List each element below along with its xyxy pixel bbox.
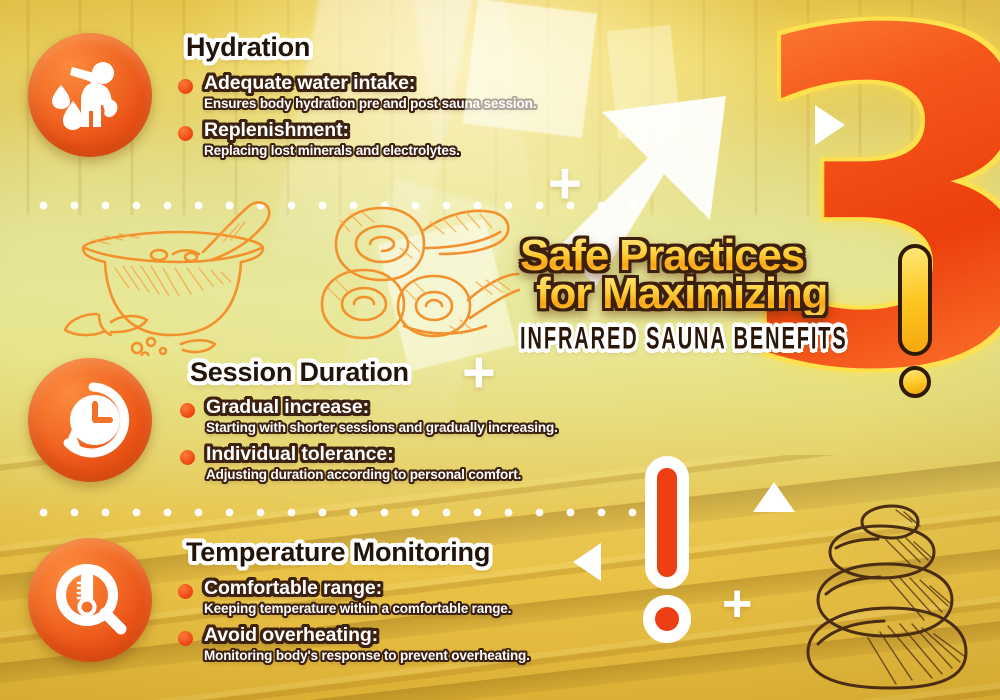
dotted-divider: [28, 507, 648, 518]
bullet-description: Monitoring body's response to prevent ov…: [204, 648, 648, 663]
bullet-dot: [180, 403, 195, 418]
bullet-list-session-duration: Gradual increase: Starting with shorter …: [180, 396, 650, 484]
bullet-item: Comfortable range: Keeping temperature w…: [178, 577, 648, 616]
section-icon-badge-hydration[interactable]: [28, 33, 152, 157]
bullet-heading: Individual tolerance:: [206, 443, 650, 466]
section-icon-badge-temperature-monitoring[interactable]: [28, 538, 152, 662]
bullet-dot: [180, 450, 195, 465]
triangle-decoration: [815, 105, 845, 145]
bullet-description: Starting with shorter sessions and gradu…: [206, 420, 650, 435]
section-title-hydration: Hydration: [186, 32, 310, 63]
mortar-and-pestle-sketch: [55, 196, 305, 356]
title-line-2: for Maximizing: [520, 274, 910, 314]
bullet-heading: Gradual increase:: [206, 396, 650, 419]
triangle-decoration: [573, 543, 601, 581]
bullet-dot: [178, 631, 193, 646]
bullet-dot: [178, 126, 193, 141]
plus-decoration: +: [548, 155, 582, 213]
plus-decoration: +: [722, 578, 752, 630]
bullet-description: Keeping temperature within a comfortable…: [204, 601, 648, 616]
bullet-dot: [178, 584, 193, 599]
poster-subtitle: INFRARED SAUNA BENEFITS: [520, 320, 809, 357]
bullet-item: Avoid overheating: Monitoring body's res…: [178, 624, 648, 663]
clock-rotate-icon: [47, 377, 133, 463]
triangle-decoration: [753, 482, 795, 512]
exclamation-bar: [898, 244, 932, 356]
section-title-session-duration: Session Duration: [190, 357, 409, 388]
infographic-poster: + + + 3 Safe Practices for Maximizing IN…: [0, 0, 1000, 700]
bullet-heading: Avoid overheating:: [204, 624, 648, 647]
bullet-item: Gradual increase: Starting with shorter …: [180, 396, 650, 435]
section-icon-badge-session-duration[interactable]: [28, 358, 152, 482]
plus-decoration: +: [462, 344, 496, 402]
person-drinking-water-icon: [48, 53, 132, 137]
exclamation-dot: [899, 366, 931, 398]
big-number-three: 3: [736, 0, 1000, 434]
red-exclamation-mark: [645, 456, 691, 643]
magnifier-thermometer-icon: [47, 557, 133, 643]
section-title-temperature-monitoring: Temperature Monitoring: [186, 537, 490, 568]
bullet-list-temperature-monitoring: Comfortable range: Keeping temperature w…: [178, 577, 648, 665]
bullet-description: Adjusting duration according to personal…: [206, 467, 650, 482]
poster-title-block: Safe Practices for Maximizing INFRARED S…: [520, 236, 910, 354]
rolled-towels-sketch: [300, 196, 520, 351]
gold-exclamation-mark: [898, 244, 932, 398]
bullet-item: Individual tolerance: Adjusting duration…: [180, 443, 650, 482]
bullet-dot: [178, 79, 193, 94]
exclamation-dot: [643, 595, 691, 643]
exclamation-bar: [645, 456, 689, 589]
zen-stones-sketch: [800, 492, 980, 692]
